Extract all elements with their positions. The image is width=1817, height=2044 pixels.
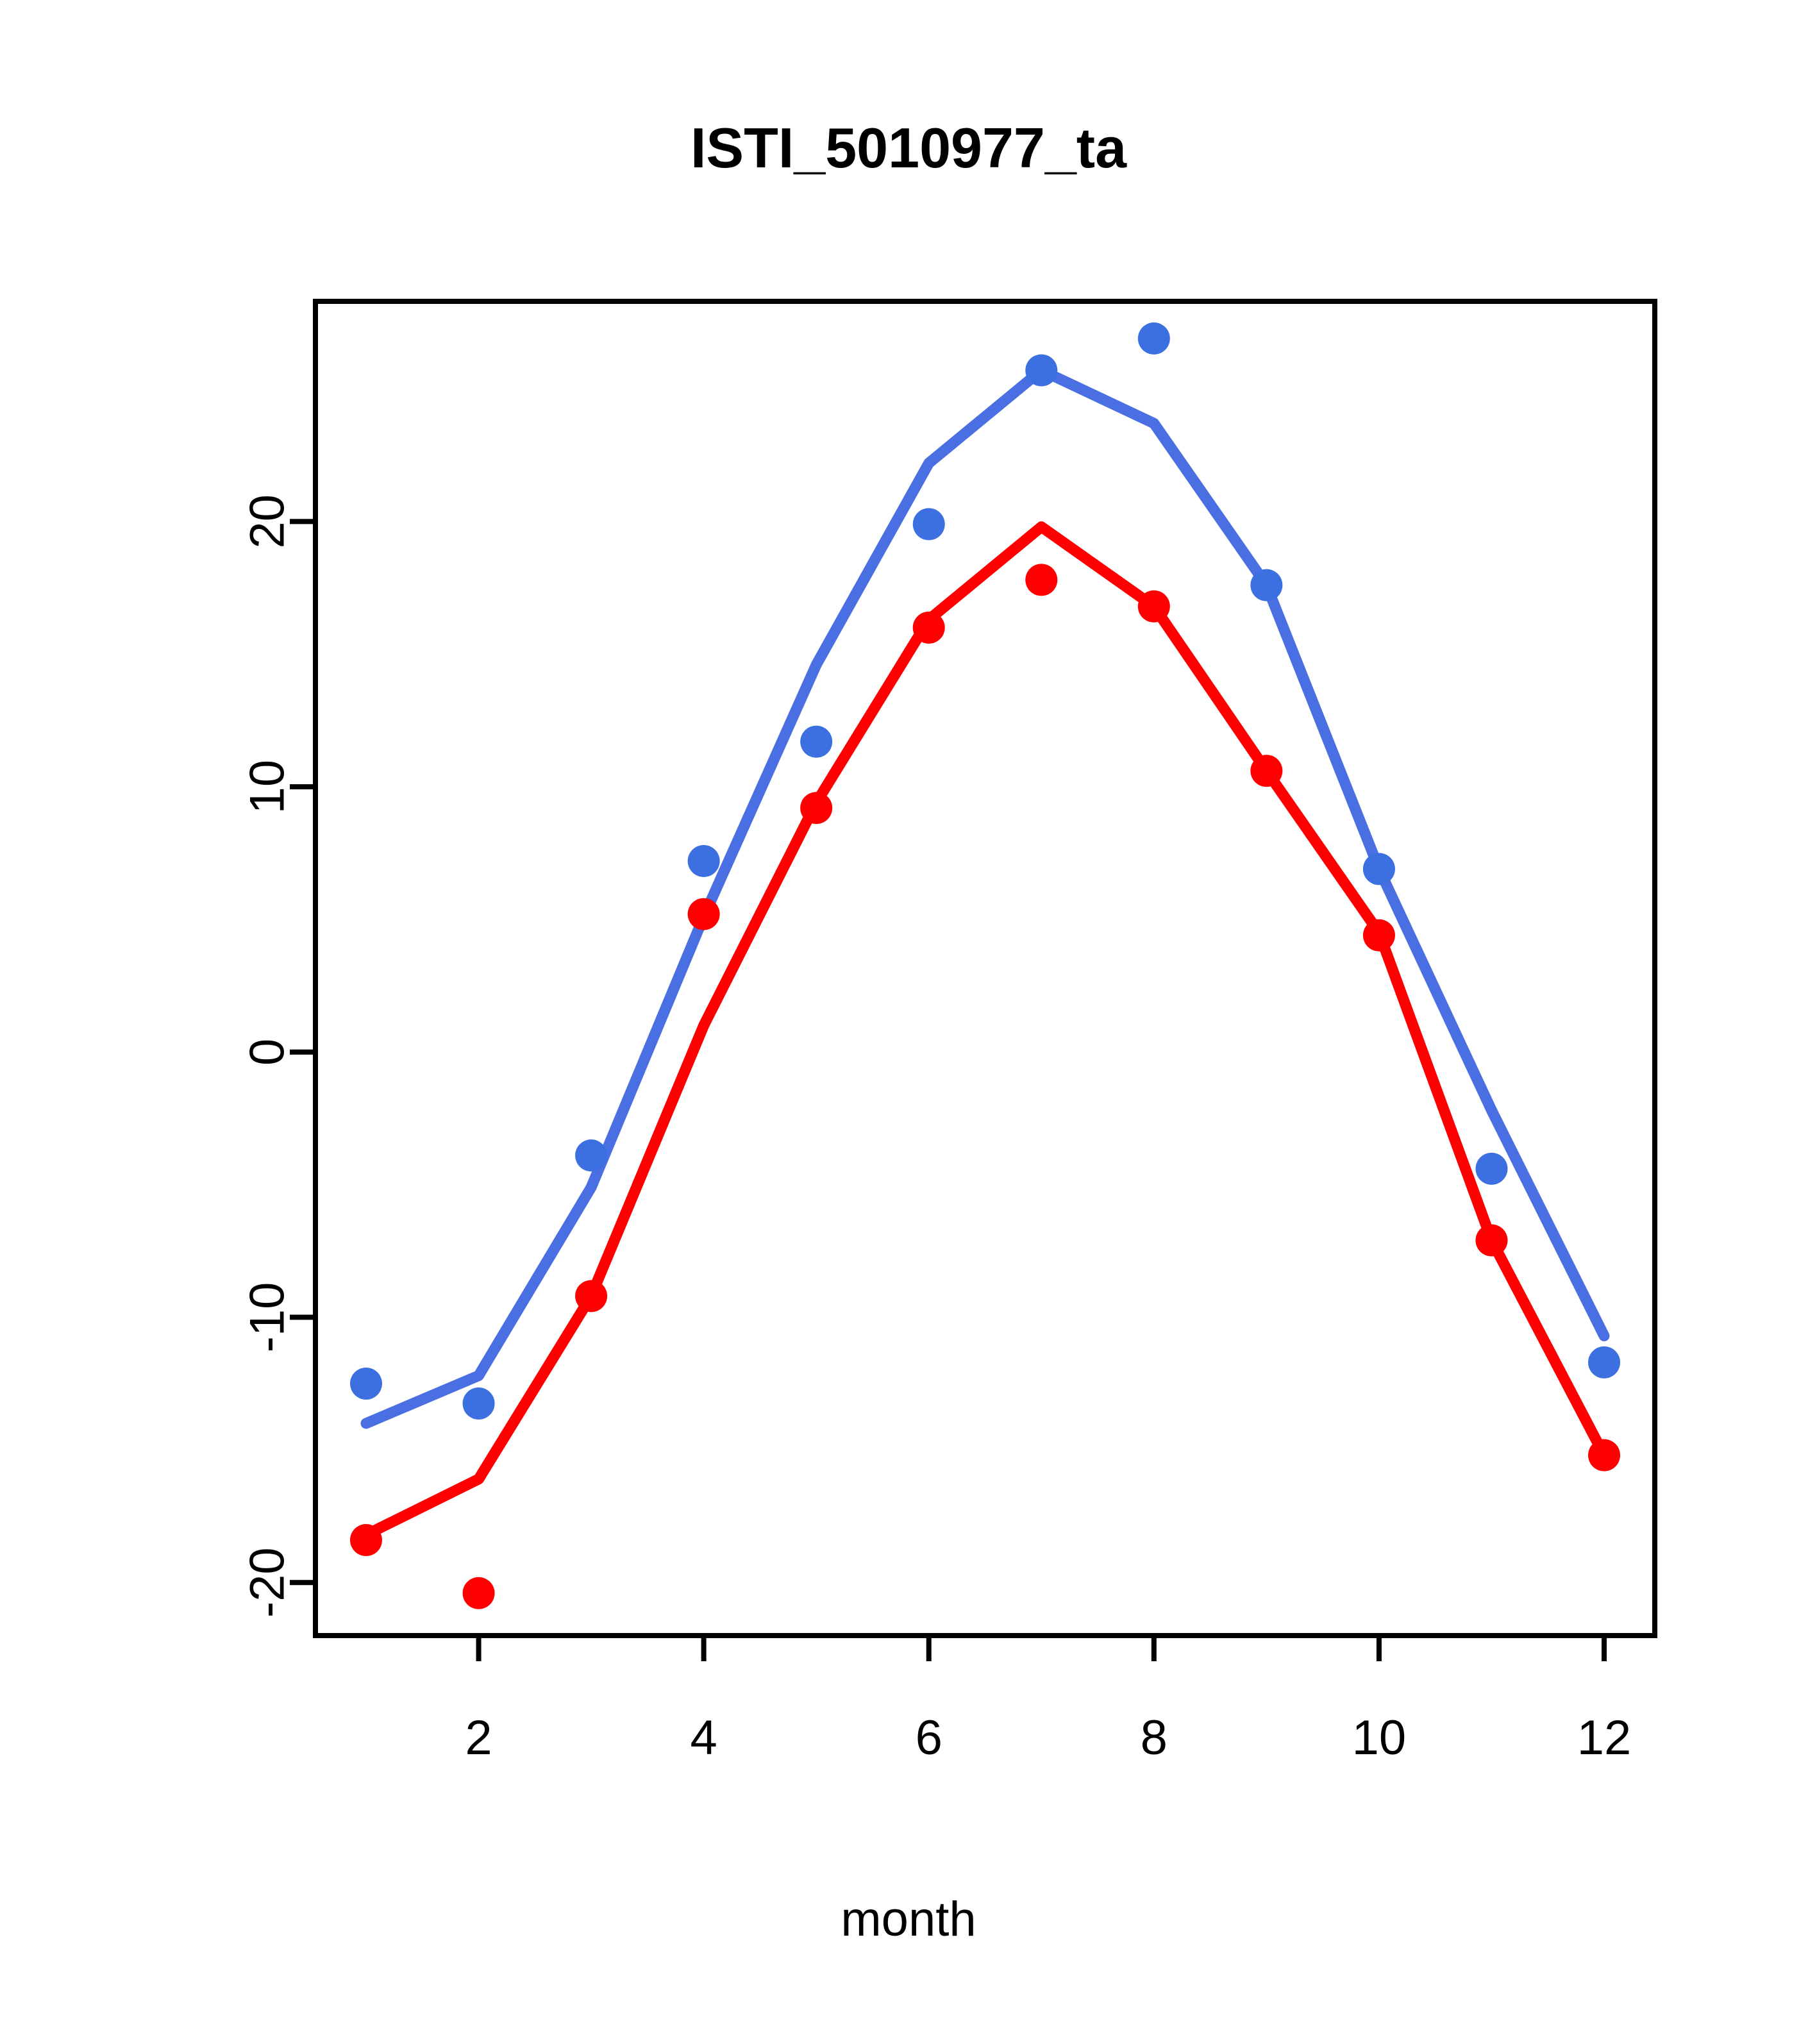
series-line-blue-line bbox=[366, 371, 1604, 1423]
data-point bbox=[688, 898, 720, 930]
data-point bbox=[350, 1368, 382, 1400]
x-tick-label: 10 bbox=[1352, 1711, 1407, 1765]
y-axis-tick-labels: -20-1001020 bbox=[240, 494, 295, 1618]
data-point bbox=[575, 1280, 607, 1312]
data-point bbox=[913, 612, 945, 644]
series-points-blue-points bbox=[350, 323, 1620, 1420]
x-tick-label: 12 bbox=[1577, 1711, 1632, 1765]
data-point bbox=[1475, 1225, 1507, 1257]
data-point bbox=[463, 1577, 495, 1609]
data-point bbox=[463, 1387, 495, 1420]
x-axis-ticks bbox=[479, 1636, 1604, 1661]
series-line-red-line bbox=[366, 527, 1604, 1535]
x-tick-label: 8 bbox=[1141, 1711, 1168, 1765]
y-tick-label: 20 bbox=[240, 494, 295, 549]
y-tick-label: -20 bbox=[240, 1547, 295, 1618]
x-tick-label: 4 bbox=[690, 1711, 717, 1765]
data-point bbox=[1025, 355, 1057, 387]
data-point bbox=[1363, 853, 1395, 885]
data-point bbox=[1138, 323, 1170, 355]
data-point bbox=[1588, 1346, 1620, 1378]
data-point bbox=[1025, 564, 1057, 596]
data-point bbox=[1250, 569, 1282, 601]
plot-box bbox=[315, 301, 1655, 1636]
chart-canvas: -20-1001020 24681012 bbox=[0, 0, 1817, 2044]
chart-page: ISTI_5010977_ta -20-1001020 24681012 mon… bbox=[0, 0, 1817, 2044]
y-tick-label: 0 bbox=[240, 1039, 295, 1066]
data-series-layer bbox=[350, 323, 1620, 1609]
data-point bbox=[350, 1524, 382, 1556]
y-tick-label: 10 bbox=[240, 760, 295, 814]
plot-border bbox=[315, 301, 1655, 1636]
x-axis-tick-labels: 24681012 bbox=[465, 1711, 1631, 1765]
data-point bbox=[913, 508, 945, 540]
data-point bbox=[575, 1139, 607, 1171]
data-point bbox=[800, 792, 832, 824]
data-point bbox=[1588, 1439, 1620, 1471]
data-point bbox=[800, 726, 832, 758]
data-point bbox=[1250, 755, 1282, 787]
data-point bbox=[1138, 591, 1170, 623]
y-tick-label: -10 bbox=[240, 1282, 295, 1353]
data-point bbox=[688, 845, 720, 877]
data-point bbox=[1363, 919, 1395, 951]
data-point bbox=[1475, 1153, 1507, 1185]
x-tick-label: 6 bbox=[916, 1711, 942, 1765]
x-axis-label: month bbox=[0, 1891, 1817, 1947]
x-tick-label: 2 bbox=[465, 1711, 492, 1765]
